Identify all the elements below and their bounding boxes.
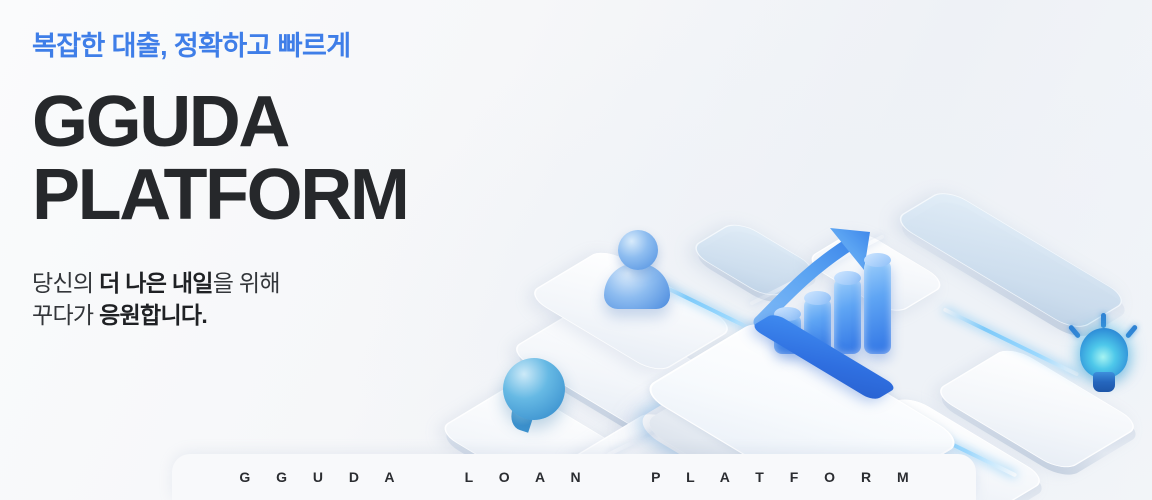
- chart-bar-4: [864, 260, 891, 354]
- chart-bar-3: [834, 278, 861, 354]
- speech-bubble-icon: [503, 358, 565, 430]
- bulb-ray-right: [1125, 324, 1138, 339]
- ribbon-label: G G U D A L O A N P L A T F O R M: [228, 469, 919, 485]
- bubble-body: [503, 358, 565, 420]
- hero-copy: 복잡한 대출, 정확하고 빠르게 GGUDA PLATFORM 당신의 더 나은…: [32, 30, 652, 332]
- page-title: GGUDA PLATFORM: [32, 86, 652, 233]
- tagline-line1-bold: 더 나은 내일: [99, 270, 213, 296]
- iso-tile-glass-bar-right: [906, 208, 1116, 312]
- bar-chart-icon: [752, 268, 922, 398]
- hero-banner: 복잡한 대출, 정확하고 빠르게 GGUDA PLATFORM 당신의 더 나은…: [0, 0, 1152, 500]
- tagline-line1-tail: 을 위해: [213, 270, 280, 296]
- bottom-ribbon: G G U D A L O A N P L A T F O R M: [172, 454, 976, 500]
- iso-tile-top: [891, 188, 1132, 333]
- lightbulb-icon: [1074, 318, 1134, 396]
- tagline-line1-plain: 당신의: [32, 270, 99, 296]
- tagline-line2-plain: 꾸다가: [32, 302, 99, 328]
- bulb-screw: [1093, 372, 1115, 392]
- bulb-ray-center: [1101, 313, 1106, 328]
- hero-tagline: 당신의 더 나은 내일을 위해 꾸다가 응원합니다.: [32, 267, 652, 332]
- hero-eyebrow: 복잡한 대출, 정확하고 빠르게: [32, 30, 652, 64]
- bulb-glass: [1080, 328, 1128, 378]
- tagline-line2-bold: 응원합니다.: [99, 302, 207, 328]
